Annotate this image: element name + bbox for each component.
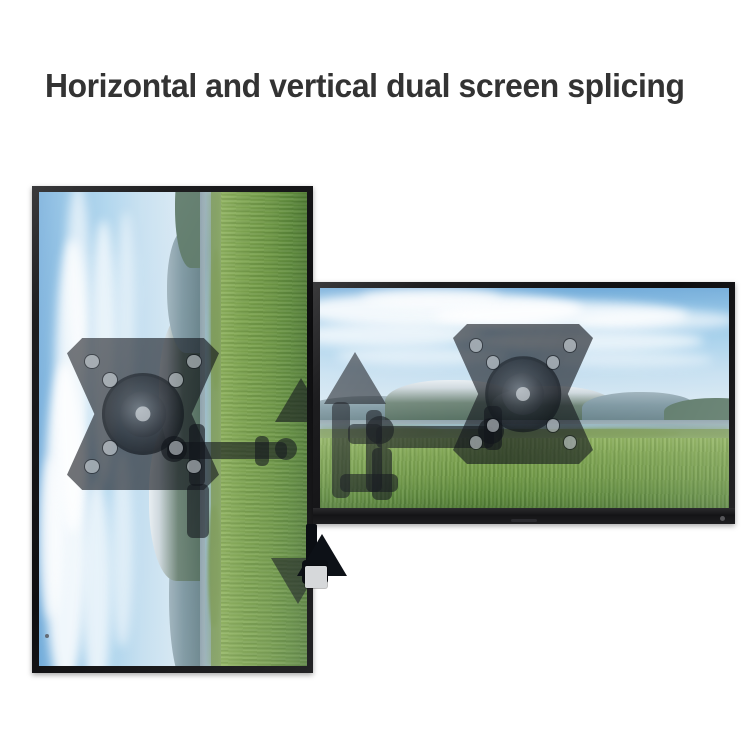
grass-foreground — [221, 192, 307, 666]
cloud — [475, 330, 704, 352]
cloud — [361, 288, 500, 308]
cloud — [90, 220, 117, 485]
right-monitor-chin — [313, 508, 735, 524]
power-led-icon — [720, 516, 725, 521]
cloud — [336, 347, 508, 365]
mountain-range — [146, 192, 205, 666]
right-screen-wallpaper — [320, 288, 729, 508]
cloud — [39, 457, 63, 618]
cloud — [574, 310, 729, 330]
monitor-indicator-led — [45, 634, 49, 638]
right-monitor-landscape[interactable] — [313, 282, 735, 524]
left-monitor-portrait[interactable] — [32, 186, 313, 673]
mountain-range — [320, 376, 729, 424]
page-title: Horizontal and vertical dual screen spli… — [45, 66, 716, 106]
product-image-canvas: Horizontal and vertical dual screen spli… — [0, 0, 750, 750]
right-monitor-screen — [320, 288, 729, 508]
left-screen-wallpaper — [39, 192, 307, 666]
cloud — [533, 352, 713, 367]
cloud — [66, 192, 90, 372]
brand-nub — [511, 519, 537, 522]
grass-foreground — [320, 438, 729, 508]
left-monitor-screen — [39, 192, 307, 666]
cloud — [111, 448, 132, 647]
desk-clamp-pad — [305, 566, 327, 588]
